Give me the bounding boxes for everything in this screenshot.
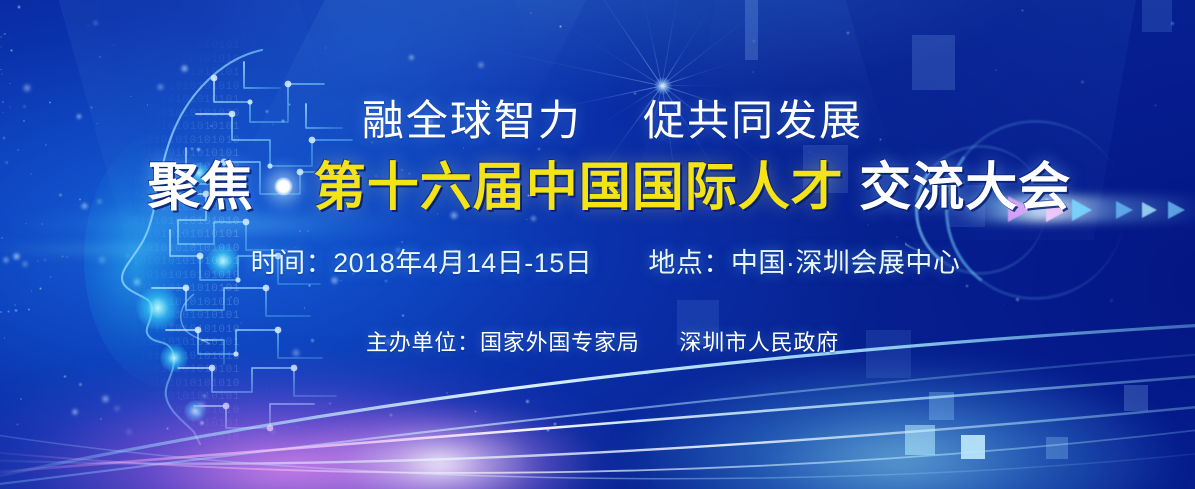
place-label: 地点： [648, 248, 731, 278]
main-title-prefix: 聚焦 [148, 159, 254, 217]
banner-headline: 融全球智力 促共同发展 [0, 100, 1195, 142]
main-title-dot-separator-icon [274, 177, 293, 196]
time-label: 时间： [251, 248, 334, 278]
host-label: 主办单位： [366, 330, 480, 355]
host-value-1: 国家外国专家局 [480, 330, 640, 355]
banner-info-line: 时间：2018年4月14日-15日 地点：中国·深圳会展中心 [0, 250, 1195, 277]
place-value: 中国·深圳会展中心 [731, 248, 961, 278]
main-title-yellow: 第十六届中国国际人才 [314, 159, 844, 217]
time-value: 2018年4月14日-15日 [333, 248, 592, 278]
headline-part-2: 促共同发展 [643, 97, 863, 144]
banner-text-content: 融全球智力 促共同发展 聚焦 第十六届中国国际人才 交流大会 时间：2018年4… [0, 0, 1195, 489]
main-title-suffix: 交流大会 [859, 159, 1071, 217]
conference-banner: 01010101010101010101 1010101010101010101… [0, 0, 1195, 489]
headline-part-1: 融全球智力 [362, 97, 582, 144]
banner-main-title: 聚焦 第十六届中国国际人才 交流大会 [0, 162, 1195, 214]
host-value-2: 深圳市人民政府 [679, 330, 839, 355]
banner-host-line: 主办单位：国家外国专家局 深圳市人民政府 [0, 332, 1195, 354]
